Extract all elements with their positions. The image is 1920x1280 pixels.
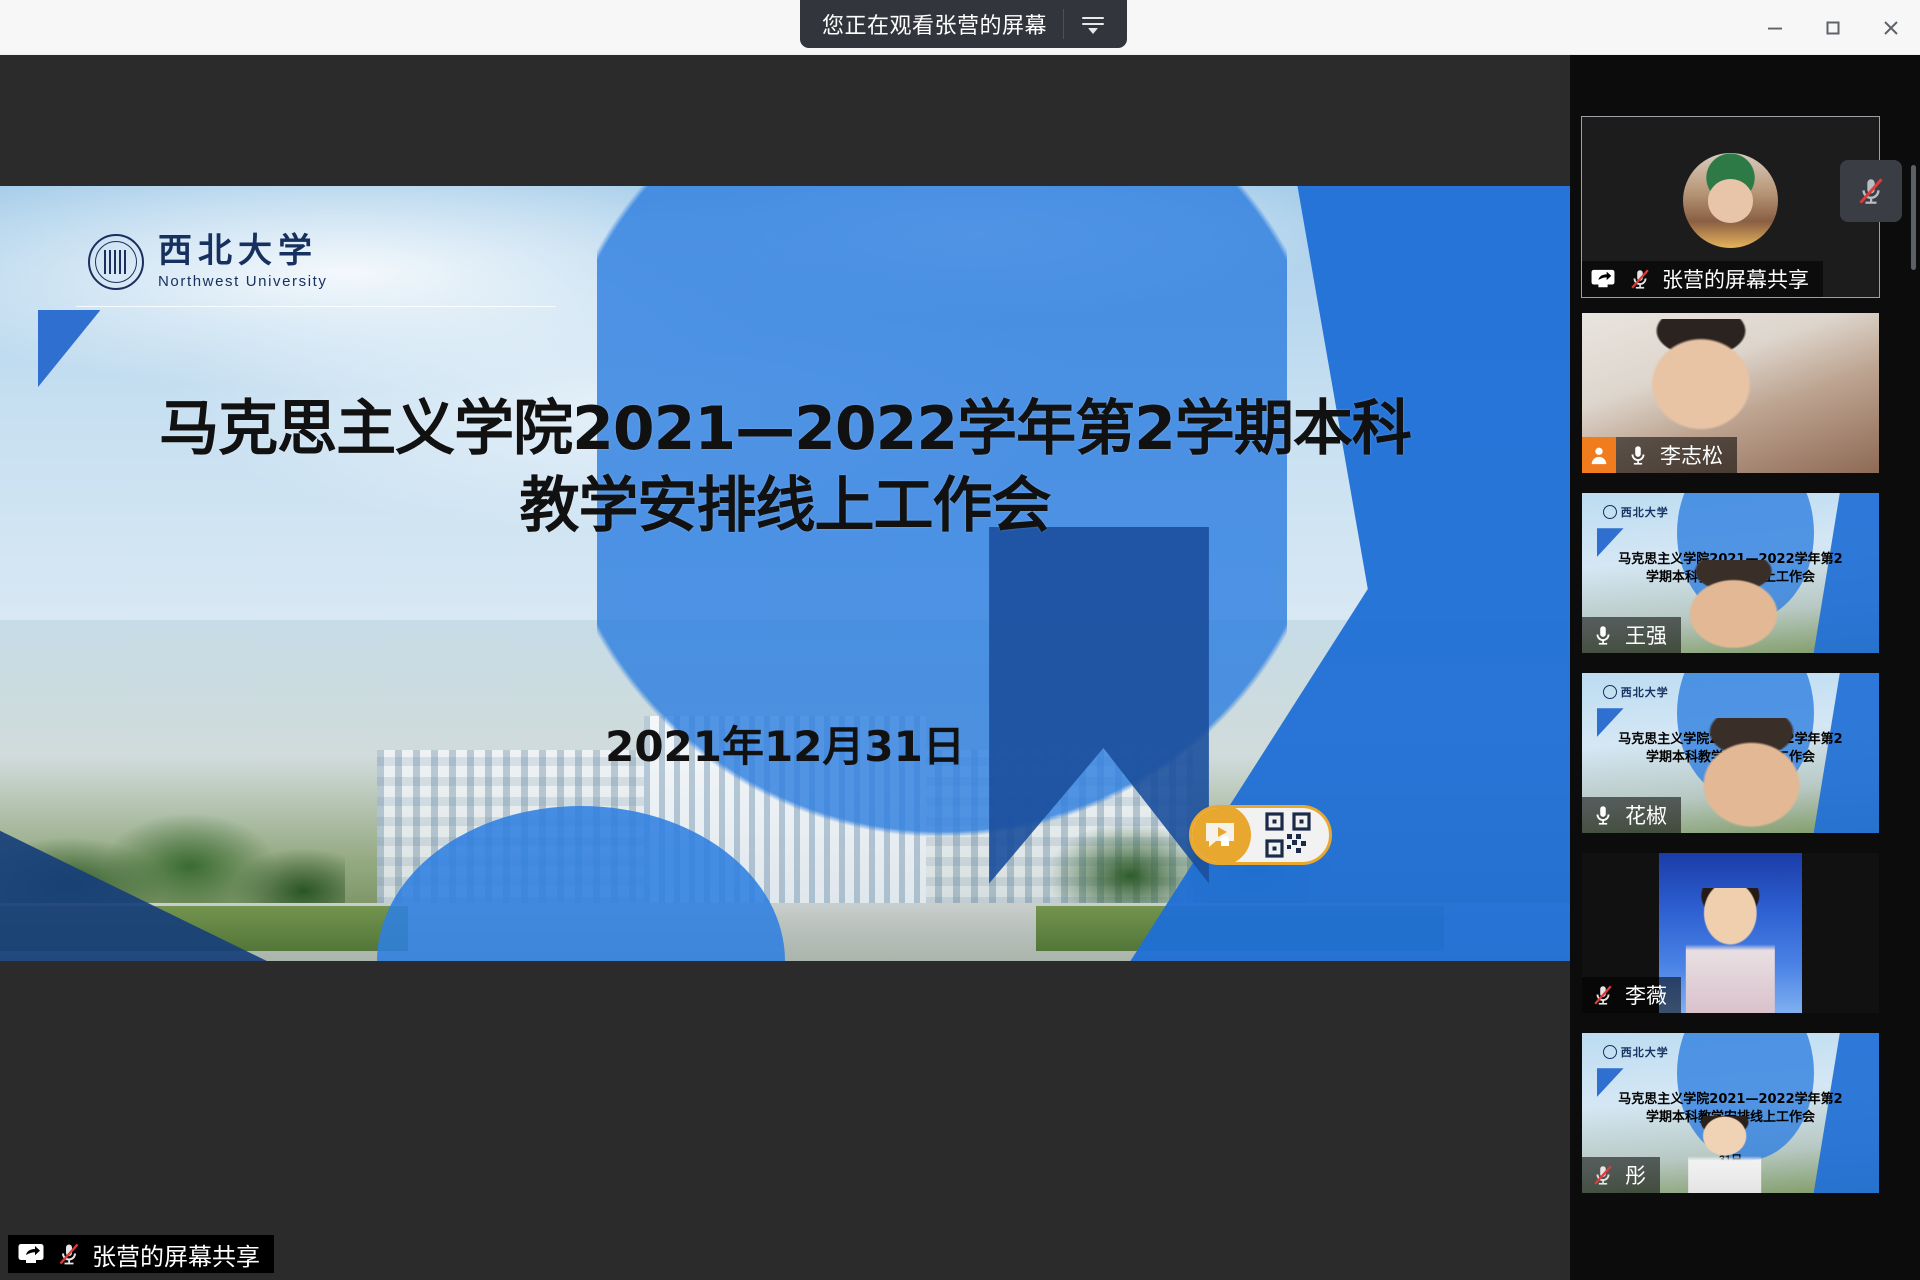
window-controls: [1746, 0, 1920, 55]
participant-name-4: 李薇: [1625, 980, 1667, 1010]
presentation-slide: 西北大学 Northwest University 马克思主义学院2021—20…: [0, 186, 1570, 961]
microphone-icon: [1623, 440, 1653, 470]
qr-promo-widget[interactable]: [1189, 805, 1332, 865]
title-bar: 您正在观看张营的屏幕: [0, 0, 1920, 55]
university-name-en: Northwest University: [158, 273, 328, 290]
participant-name-2: 王强: [1625, 620, 1667, 650]
rail-scrollbar[interactable]: [1911, 165, 1916, 270]
participant-name-bar-5: 彤: [1582, 1157, 1660, 1193]
screen-share-status: 张营的屏幕共享: [8, 1235, 274, 1273]
microphone-muted-icon: [1855, 175, 1887, 207]
microphone-muted-icon: [1625, 264, 1655, 294]
participant-name-bar-4: 李薇: [1582, 977, 1681, 1013]
university-name-cn: 西北大学: [158, 234, 328, 268]
host-badge-icon: [1582, 437, 1616, 473]
participant-name-1: 李志松: [1660, 440, 1723, 470]
slide-title: 马克思主义学院2021—2022学年第2学期本科教学安排线上工作会: [0, 391, 1570, 545]
hamburger-menu-icon[interactable]: [1064, 0, 1122, 48]
share-banner[interactable]: 您正在观看张营的屏幕: [800, 0, 1127, 48]
screen-share-icon: [16, 1239, 46, 1269]
participant-tile-4[interactable]: 李薇: [1582, 853, 1879, 1013]
university-seal-icon: [88, 234, 144, 290]
screen-share-icon: [1588, 264, 1618, 294]
slide-header-rule: [76, 306, 556, 307]
participant-name-bar-2: 王强: [1582, 617, 1681, 653]
participant-name-5: 彤: [1625, 1160, 1646, 1190]
participant-tile-1[interactable]: 李志松: [1582, 313, 1879, 473]
participant-name-bar-3: 花椒: [1582, 797, 1681, 833]
mute-toggle-button[interactable]: [1840, 160, 1902, 222]
microphone-icon: [1588, 800, 1618, 830]
qr-code-icon: [1265, 812, 1311, 858]
participant-tile-3[interactable]: 西北大学 马克思主义学院2021—2022学年第2学期本科教学安排线上工作会 花…: [1582, 673, 1879, 833]
microphone-muted-icon: [54, 1239, 84, 1269]
microphone-muted-icon: [1588, 1160, 1618, 1190]
screen-share-owner-label: 张营的屏幕共享: [92, 1237, 260, 1272]
participant-tile-2[interactable]: 西北大学 马克思主义学院2021—2022学年第2学期本科教学安排线上工作会 王…: [1582, 493, 1879, 653]
screen-share-window: 您正在观看张营的屏幕: [0, 0, 1920, 1280]
participant-tile-0[interactable]: 张营的屏幕共享: [1582, 117, 1879, 297]
participant-rail[interactable]: 张营的屏幕共享: [1570, 55, 1920, 1280]
slide-date: 2021年12月31日: [0, 713, 1570, 774]
chat-bubble-play-icon: [1189, 805, 1251, 865]
stage-bottom-bar: 张营的屏幕共享: [0, 1225, 1570, 1280]
microphone-muted-icon: [1588, 980, 1618, 1010]
avatar: [1683, 153, 1778, 248]
participant-name-bar-0: 张营的屏幕共享: [1582, 261, 1823, 297]
participant-name-bar-1: 李志松: [1582, 437, 1737, 473]
participant-name-3: 花椒: [1625, 800, 1667, 830]
participant-tile-5[interactable]: 西北大学 马克思主义学院2021—2022学年第2学期本科教学安排线上工作会 3…: [1582, 1033, 1879, 1193]
minimize-button[interactable]: [1746, 0, 1804, 55]
shared-screen-stage[interactable]: 西北大学 Northwest University 马克思主义学院2021—20…: [0, 55, 1570, 1280]
close-button[interactable]: [1862, 0, 1920, 55]
microphone-icon: [1588, 620, 1618, 650]
share-banner-label: 您正在观看张营的屏幕: [822, 8, 1047, 40]
university-logo: 西北大学 Northwest University: [88, 234, 328, 290]
participant-name-0: 张营的屏幕共享: [1662, 264, 1809, 294]
maximize-button[interactable]: [1804, 0, 1862, 55]
